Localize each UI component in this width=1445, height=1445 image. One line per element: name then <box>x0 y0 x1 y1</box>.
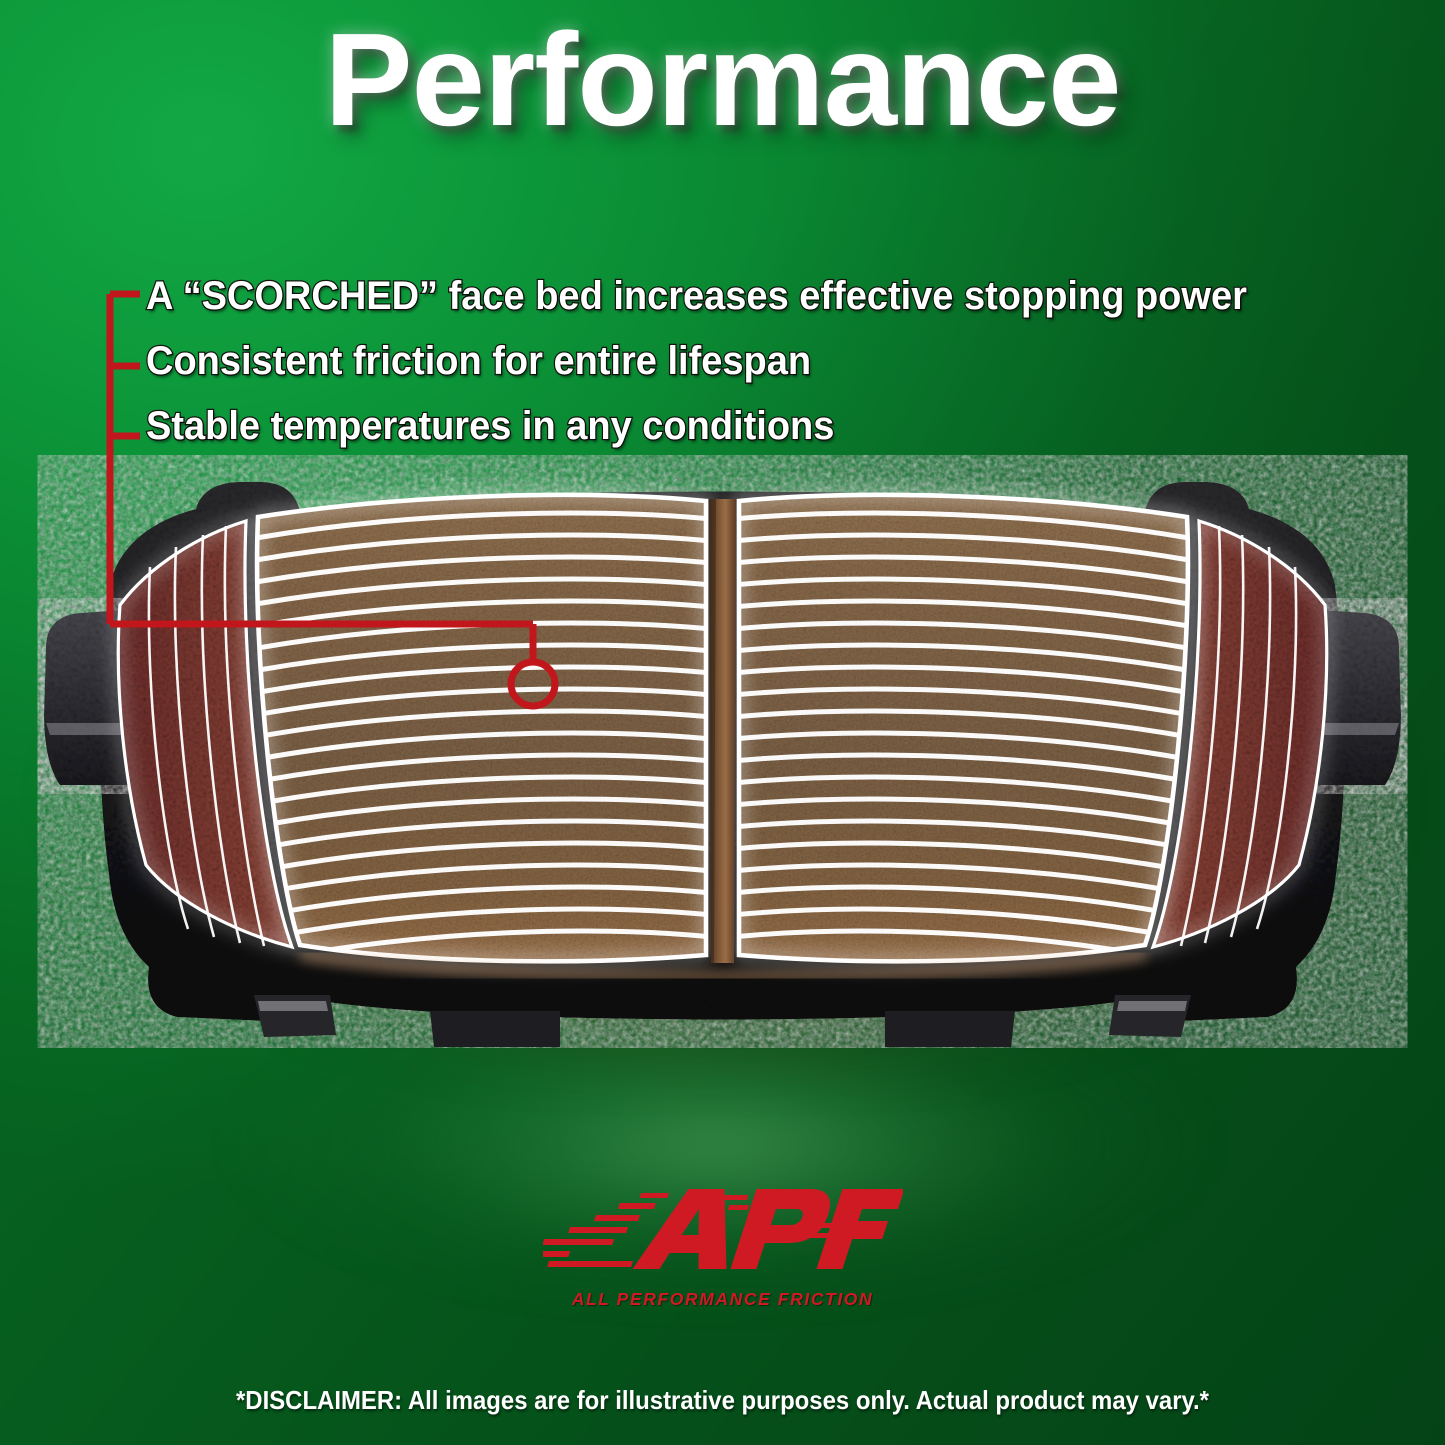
friction-surface-right <box>715 475 1205 985</box>
feature-item-2: Consistent friction for entire lifespan <box>146 341 1376 381</box>
disclaimer-text: *DISCLAIMER: All images are for illustra… <box>58 1385 1387 1416</box>
logo-tagline: ALL PERFORMANCE FRICTION <box>0 1289 1445 1310</box>
poster-canvas: Performance A “SCORCHED” face bed increa… <box>0 0 1445 1445</box>
page-title: Performance <box>0 14 1445 146</box>
feature-item-3: Stable temperatures in any conditions <box>146 406 1376 446</box>
brake-pad-illustration <box>0 455 1445 1095</box>
apf-logo-icon <box>543 1175 903 1285</box>
feature-item-1: A “SCORCHED” face bed increases effectiv… <box>146 276 1376 316</box>
product-image <box>0 455 1445 1095</box>
center-slot <box>709 499 736 963</box>
friction-surface-left <box>240 475 730 985</box>
feature-list: A “SCORCHED” face bed increases effectiv… <box>146 276 1441 471</box>
brand-logo: ALL PERFORMANCE FRICTION <box>0 1175 1445 1310</box>
